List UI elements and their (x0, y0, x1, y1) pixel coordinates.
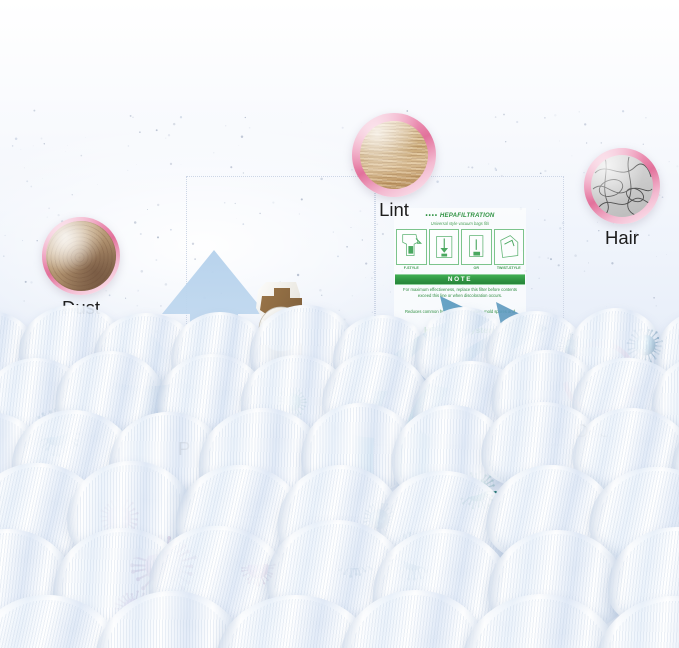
hepa-figure-captions: F-STYLE OR TWIST-STYLE (396, 266, 524, 270)
hepa-figure-4 (494, 229, 525, 265)
hepa-figcap-3: OR (461, 266, 492, 270)
sample-label-hair: Hair (563, 227, 679, 249)
sample-lint-bubble (352, 113, 436, 197)
hepa-note-heading: NOTE (448, 276, 472, 283)
fabric-fiber-background (0, 300, 679, 648)
hepa-figcap-4: TWIST-STYLE (494, 266, 525, 270)
hepa-figcap-1: F-STYLE (396, 266, 427, 270)
infographic-canvas: •••• HEPAFILTRATION Universal style vacu… (0, 0, 679, 648)
hepa-figcap-2 (429, 266, 460, 270)
sample-label-lint: Lint (335, 199, 453, 221)
hepa-figure-1 (396, 229, 427, 265)
hepa-note-banner: NOTE (395, 274, 525, 285)
sample-hair-gloss (584, 148, 660, 224)
sample-lint-gloss (352, 113, 436, 197)
hepa-instruction-figures (396, 229, 524, 265)
hepa-tagline: Universal style vacuum bags fits (394, 221, 526, 226)
sample-dust-gloss (42, 217, 120, 295)
hepa-figure-2 (429, 229, 460, 265)
sample-hair-bubble (584, 148, 660, 224)
sample-dust-bubble (42, 217, 120, 295)
hepa-brand-filtration: FILTRATION (457, 212, 494, 219)
hepa-figure-3 (461, 229, 492, 265)
